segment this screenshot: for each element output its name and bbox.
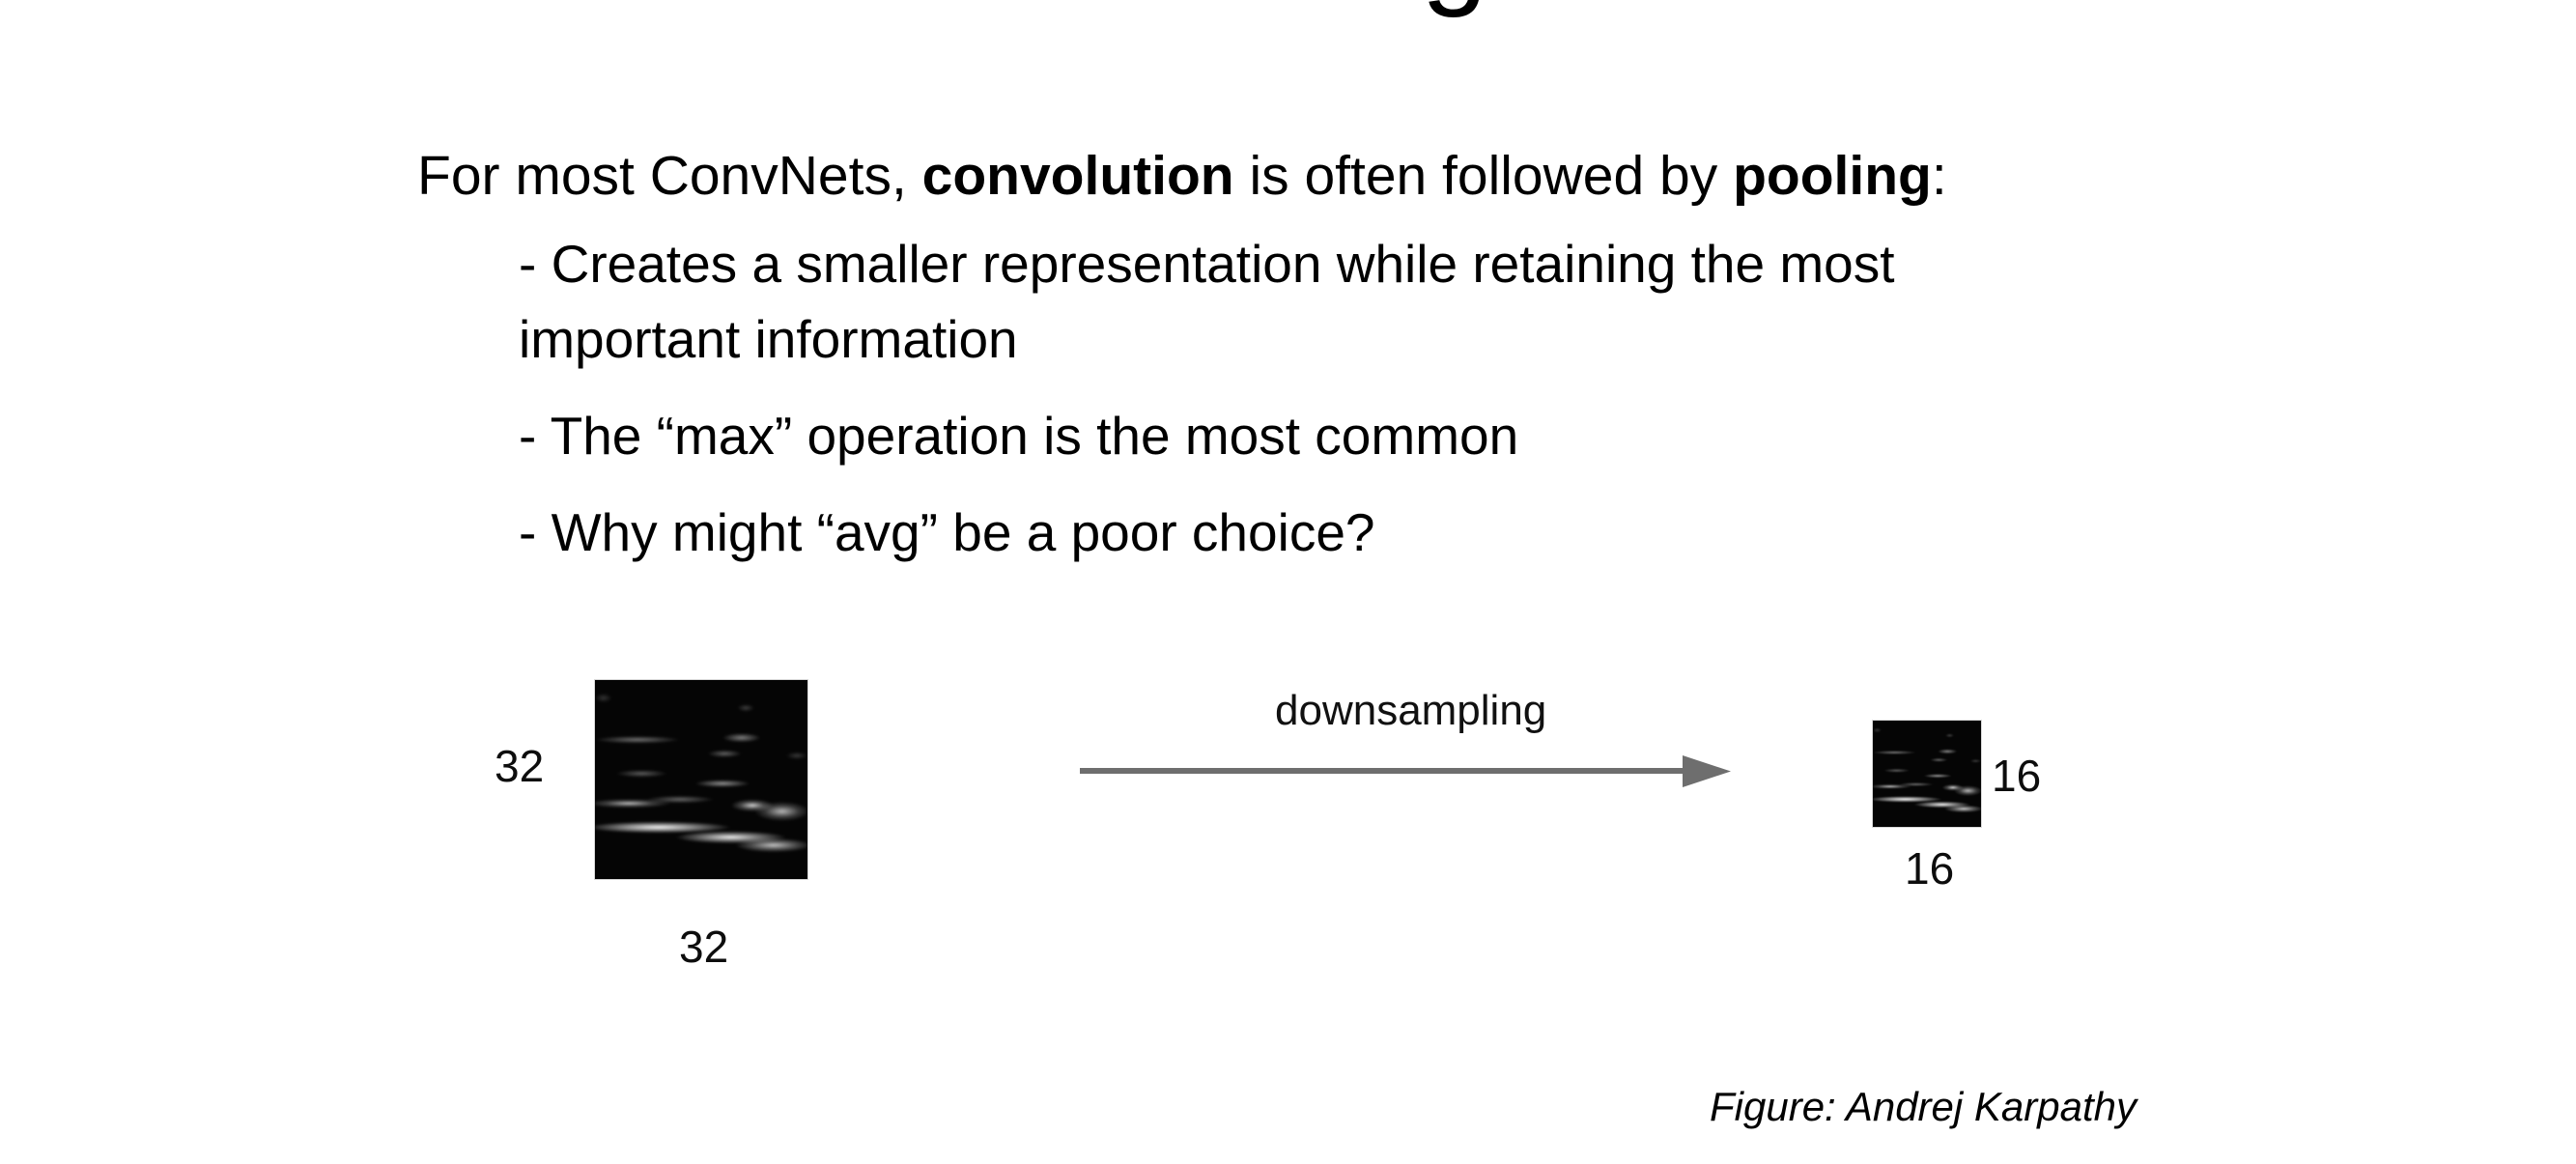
- lead-part-1: For most ConvNets,: [417, 145, 922, 207]
- lead-part-2: is often followed by: [1234, 145, 1733, 207]
- body-text-block: For most ConvNets, convolution is often …: [417, 145, 2233, 570]
- lead-part-3: :: [1932, 145, 1947, 207]
- figure-attribution: Figure: Andrej Karpathy: [1710, 1084, 2137, 1130]
- bullet-item: - The “max” operation is the most common: [519, 398, 2064, 473]
- activation-map-input-pixels: [595, 680, 807, 879]
- input-height-label: 32: [495, 744, 544, 788]
- lead-emphasis-pooling: pooling: [1733, 145, 1932, 207]
- bullet-item: - Creates a smaller representation while…: [519, 226, 2025, 377]
- output-height-label: 16: [1992, 753, 2041, 798]
- activation-map-output-pixels: [1873, 721, 1981, 827]
- lead-sentence: For most ConvNets, convolution is often …: [417, 145, 2233, 207]
- page-title: Pooling: [0, 0, 2576, 12]
- slide-pooling: Pooling For most ConvNets, convolution i…: [0, 0, 2576, 1164]
- downsampling-arrow-icon: [1072, 752, 1739, 794]
- lead-emphasis-convolution: convolution: [922, 145, 1234, 207]
- bullet-list: - Creates a smaller representation while…: [417, 226, 2233, 570]
- input-width-label: 32: [679, 924, 728, 969]
- output-width-label: 16: [1905, 846, 1954, 891]
- downsampling-label: downsampling: [1275, 689, 1546, 733]
- bullet-item: - Why might “avg” be a poor choice?: [519, 495, 2064, 570]
- activation-map-output-image: [1872, 720, 1982, 828]
- activation-map-input-image: [594, 679, 808, 880]
